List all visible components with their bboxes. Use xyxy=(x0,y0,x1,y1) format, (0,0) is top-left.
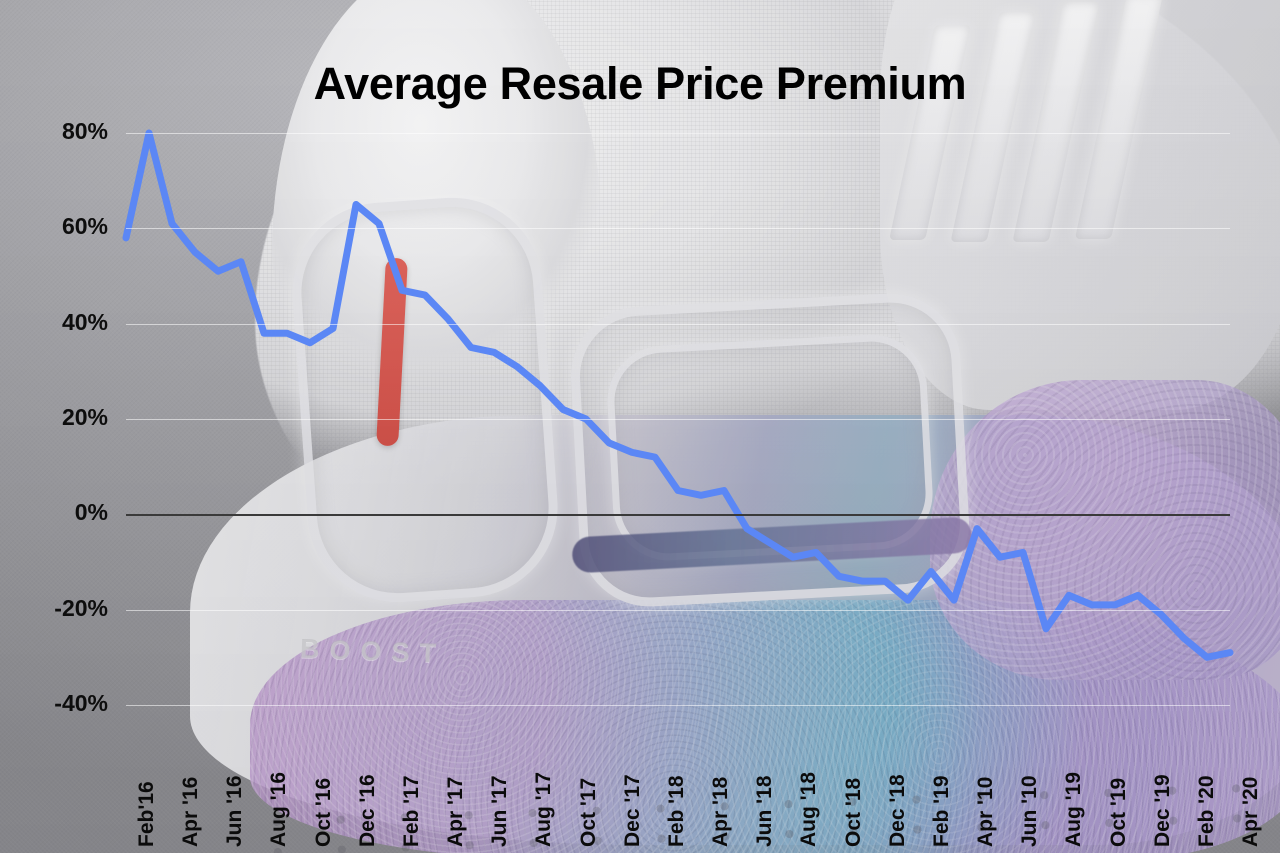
x-axis-tick-label: Oct '17 xyxy=(577,778,601,847)
chart-screenshot: BOOST Average Resale Price Premium 80%60… xyxy=(0,0,1280,853)
x-axis-tick-label: Dec '18 xyxy=(886,774,910,847)
y-axis-tick-label: 60% xyxy=(0,213,108,240)
y-axis-tick-label: -20% xyxy=(0,595,108,622)
x-axis-tick-label: Jun '17 xyxy=(488,775,512,847)
x-axis-tick-label: Aug '16 xyxy=(267,772,291,847)
gridline-40 xyxy=(126,324,1230,325)
x-axis-tick-label: Jun '10 xyxy=(1018,775,1042,847)
gridline-80 xyxy=(126,133,1230,134)
x-axis-tick-label: Aug '17 xyxy=(532,772,556,847)
y-axis-tick-label: 40% xyxy=(0,309,108,336)
x-axis-tick-label: Apr '10 xyxy=(974,777,998,847)
x-axis-tick-label: Feb'16 xyxy=(135,781,159,847)
x-axis-tick-label: Oct '16 xyxy=(312,778,336,847)
chart: Average Resale Price Premium 80%60%40%20… xyxy=(0,0,1280,853)
x-axis-tick-label: Dec '17 xyxy=(621,774,645,847)
x-axis-tick-label: Dec '16 xyxy=(356,774,380,847)
y-axis-tick-label: 0% xyxy=(0,499,108,526)
x-axis-tick-label: Feb '18 xyxy=(665,775,689,847)
x-axis-tick-label: Oct '19 xyxy=(1107,778,1131,847)
x-axis-tick-label: Feb '19 xyxy=(930,775,954,847)
gridline--40 xyxy=(126,705,1230,706)
chart-title: Average Resale Price Premium xyxy=(0,58,1280,110)
x-axis-tick-label: Aug '18 xyxy=(797,772,821,847)
x-axis-tick-label: Apr '16 xyxy=(179,777,203,847)
x-axis-tick-label: Aug '19 xyxy=(1062,772,1086,847)
gridline-60 xyxy=(126,228,1230,229)
x-axis-tick-label: Dec '19 xyxy=(1151,774,1175,847)
y-axis-tick-label: 20% xyxy=(0,404,108,431)
y-axis-tick-label: 80% xyxy=(0,118,108,145)
x-axis-tick-label: Oct '18 xyxy=(842,778,866,847)
x-axis-tick-label: Jun '16 xyxy=(223,775,247,847)
gridline-20 xyxy=(126,419,1230,420)
gridline--20 xyxy=(126,610,1230,611)
y-axis-tick-label: -40% xyxy=(0,690,108,717)
x-axis-tick-label: Jun '18 xyxy=(753,775,777,847)
plot-area: 80%60%40%20%0%-20%-40%Feb'16Apr '16Jun '… xyxy=(126,133,1230,705)
x-axis-tick-label: Apr '17 xyxy=(444,777,468,847)
x-axis-tick-label: Feb '17 xyxy=(400,775,424,847)
x-axis-tick-label: Apr '20 xyxy=(1239,777,1263,847)
x-axis-tick-label: Feb '20 xyxy=(1195,775,1219,847)
zero-reference-line xyxy=(126,514,1230,516)
x-axis-tick-label: Apr '18 xyxy=(709,777,733,847)
